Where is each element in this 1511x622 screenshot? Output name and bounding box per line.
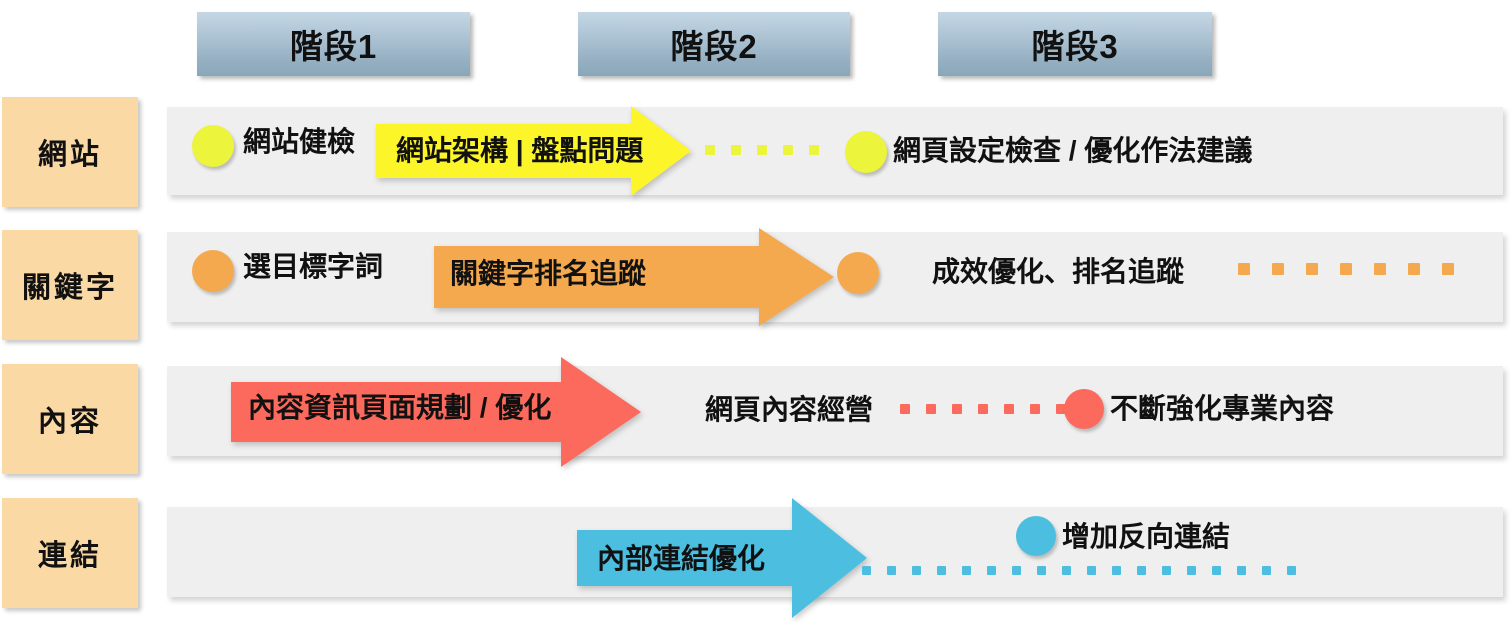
milestone-dot-website-end bbox=[845, 131, 887, 173]
keyword-end-text: 成效優化、排名追蹤 bbox=[932, 258, 1184, 286]
link-end-text: 增加反向連結 bbox=[1062, 523, 1230, 551]
milestone-dot-link-end bbox=[1016, 516, 1056, 556]
content-end-text: 不斷強化專業內容 bbox=[1110, 395, 1334, 423]
row-label-content: 內容 bbox=[2, 364, 138, 474]
stage-header-2: 階段2 bbox=[578, 12, 850, 76]
arrow-keyword bbox=[434, 228, 834, 326]
dotted-line-link bbox=[862, 566, 1296, 575]
dotted-line-content bbox=[900, 404, 1066, 414]
stage-header-3-label: 階段3 bbox=[1031, 20, 1118, 68]
row-label-website-text: 網站 bbox=[38, 131, 102, 173]
row-label-website: 網站 bbox=[2, 97, 138, 207]
dotted-line-keyword bbox=[1238, 263, 1454, 275]
arrow-content bbox=[231, 357, 641, 467]
milestone-dot-content-end bbox=[1064, 389, 1104, 429]
seo-roadmap-diagram: { "stages": [ {"label": "階段1"}, {"label"… bbox=[0, 0, 1511, 622]
milestone-dot-keyword-start bbox=[192, 250, 234, 292]
website-end-text: 網頁設定檢查 / 優化作法建議 bbox=[893, 137, 1252, 165]
row-label-keyword-text: 關鍵字 bbox=[22, 264, 118, 306]
dotted-line-website bbox=[705, 145, 819, 155]
row-band-website bbox=[167, 107, 1503, 195]
stage-header-3: 階段3 bbox=[938, 12, 1212, 76]
row-label-keyword: 關鍵字 bbox=[2, 230, 138, 340]
website-start-text: 網站健檢 bbox=[243, 128, 355, 156]
arrow-link bbox=[577, 498, 867, 618]
row-label-link: 連結 bbox=[2, 498, 138, 608]
arrow-website bbox=[376, 106, 691, 196]
stage-header-1: 階段1 bbox=[197, 12, 470, 76]
row-label-link-text: 連結 bbox=[38, 532, 102, 574]
keyword-start-text: 選目標字詞 bbox=[243, 253, 383, 281]
stage-header-1-label: 階段1 bbox=[290, 20, 377, 68]
milestone-dot-website-start bbox=[192, 125, 234, 167]
milestone-dot-keyword-mid bbox=[837, 252, 879, 294]
content-mid-text: 網頁內容經營 bbox=[705, 396, 873, 424]
stage-header-2-label: 階段2 bbox=[670, 20, 757, 68]
row-label-content-text: 內容 bbox=[38, 398, 102, 440]
